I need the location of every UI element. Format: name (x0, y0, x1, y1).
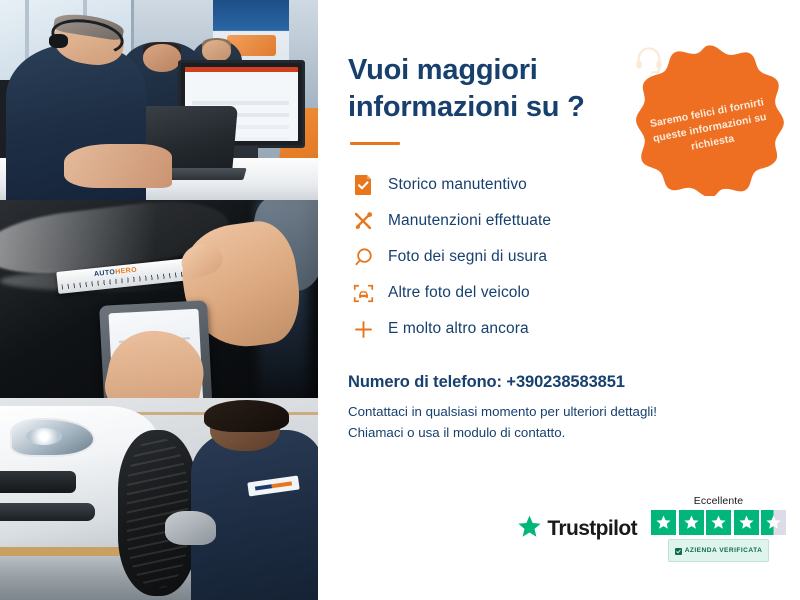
rating-star-filled (734, 510, 759, 535)
trustpilot-stars (651, 510, 786, 535)
car-lower-grille (0, 503, 95, 521)
mechanic-hair (204, 400, 290, 432)
rating-star-filled (651, 510, 676, 535)
contact-description-line-1: Contattaci in qualsiasi momento per ulte… (348, 401, 723, 422)
call-center-agents-photo (0, 0, 318, 200)
magnifier-icon (348, 244, 378, 270)
trustpilot-rating-label: Eccellente (694, 495, 743, 507)
rating-star-filled (706, 510, 731, 535)
callout-badge: Saremo felici di fornirti queste informa… (634, 44, 786, 196)
content-panel: Vuoi maggiori informazioni su ? Storico … (318, 0, 800, 600)
trustpilot-brand-name: Trustpilot (547, 517, 637, 541)
car-headlight (10, 418, 96, 456)
trustpilot-logo: Trustpilot (517, 514, 637, 544)
feature-label: Storico manutentivo (388, 176, 527, 194)
promo-panel: AUTOHERO (0, 0, 800, 600)
rating-star-half (761, 510, 786, 535)
page-title: Vuoi maggiori informazioni su ? (348, 52, 638, 126)
trustpilot-rating-block: Eccellente (651, 495, 786, 562)
contact-description-line-2: Chiamaci o usa il modulo di contatto. (348, 422, 723, 443)
crossed-tools-icon (348, 208, 378, 234)
mechanic-lift-photo (0, 398, 318, 600)
damage-inspection-photo: AUTOHERO (0, 200, 318, 398)
feature-label: E molto altro ancora (388, 320, 529, 338)
phone-label: Numero di telefono: (348, 373, 502, 391)
agent-head (202, 40, 231, 62)
trustpilot-widget[interactable]: Trustpilot Eccellente (517, 495, 786, 562)
verified-check-icon (675, 542, 682, 560)
list-item: E molto altro ancora (348, 311, 800, 347)
mechanic-glove (165, 511, 216, 545)
car-scan-icon (348, 280, 378, 306)
mechanic-body (191, 430, 318, 600)
autohero-brand-label: AUTOHERO (94, 267, 138, 278)
headset-earcup (49, 34, 68, 48)
verified-business-badge: AZIENDA VERIFICATA (668, 539, 770, 562)
verified-label: AZIENDA VERIFICATA (685, 547, 763, 554)
agent-arms (64, 144, 172, 188)
document-check-icon (348, 172, 378, 198)
list-item: Foto dei segni di usura (348, 239, 800, 275)
car-grille (0, 471, 76, 493)
rating-star-filled (679, 510, 704, 535)
photo-strip: AUTOHERO (0, 0, 318, 600)
agent-head (143, 44, 181, 72)
title-underline-rule (350, 142, 400, 145)
plus-icon (348, 316, 378, 342)
list-item: Altre foto del veicolo (348, 275, 800, 311)
phone-line: Numero di telefono: +390238583851 (348, 373, 800, 392)
contact-description: Contattaci in qualsiasi momento per ulte… (348, 401, 723, 443)
phone-number[interactable]: +390238583851 (506, 373, 624, 391)
feature-label: Altre foto del veicolo (388, 284, 530, 302)
feature-label: Foto dei segni di usura (388, 248, 547, 266)
trustpilot-star-icon (517, 514, 542, 544)
feature-label: Manutenzioni effettuate (388, 212, 551, 230)
list-item: Manutenzioni effettuate (348, 203, 800, 239)
